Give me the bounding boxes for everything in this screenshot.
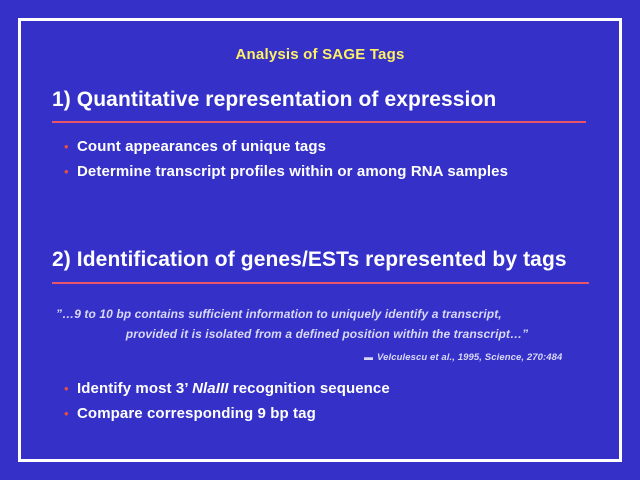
- list-item-label: Count appearances of unique tags: [77, 136, 326, 158]
- list-item-label: Determine transcript profiles within or …: [77, 161, 508, 183]
- list-item: • Identify most 3’ NlaIII recognition se…: [64, 378, 390, 400]
- list-item-text-after: recognition sequence: [229, 380, 390, 397]
- bullet-list-section-2: • Identify most 3’ NlaIII recognition se…: [64, 378, 390, 428]
- list-item: • Compare corresponding 9 bp tag: [64, 403, 390, 425]
- section-heading-1: 1) Quantitative representation of expres…: [52, 88, 496, 112]
- citation-dash-icon: ▬: [364, 352, 373, 362]
- list-item-label: Identify most 3’ NlaIII recognition sequ…: [77, 378, 390, 400]
- list-item: • Determine transcript profiles within o…: [64, 161, 508, 183]
- quotation-line-2: provided it is isolated from a defined p…: [56, 324, 584, 344]
- page-title: Analysis of SAGE Tags: [0, 46, 640, 63]
- section-divider-2: [52, 282, 589, 284]
- list-item: • Count appearances of unique tags: [64, 136, 508, 158]
- section-divider-1: [52, 121, 586, 123]
- bullet-dot-icon: •: [64, 403, 77, 425]
- bullet-dot-icon: •: [64, 161, 77, 183]
- slide-canvas: Analysis of SAGE Tags 1) Quantitative re…: [0, 0, 640, 480]
- quotation-line-1: ”…9 to 10 bp contains sufficient informa…: [56, 304, 584, 324]
- bullet-list-section-1: • Count appearances of unique tags • Det…: [64, 136, 508, 186]
- bullet-dot-icon: •: [64, 378, 77, 400]
- list-item-label: Compare corresponding 9 bp tag: [77, 403, 316, 425]
- list-item-emphasis: NlaIII: [192, 380, 228, 397]
- quotation-block: ”…9 to 10 bp contains sufficient informa…: [56, 304, 584, 344]
- citation-label: Velculescu et al., 1995, Science, 270:48…: [377, 352, 562, 363]
- bullet-dot-icon: •: [64, 136, 77, 158]
- citation: ▬ Velculescu et al., 1995, Science, 270:…: [364, 352, 562, 363]
- section-heading-2: 2) Identification of genes/ESTs represen…: [52, 248, 567, 272]
- list-item-text-before: Identify most 3’: [77, 380, 192, 397]
